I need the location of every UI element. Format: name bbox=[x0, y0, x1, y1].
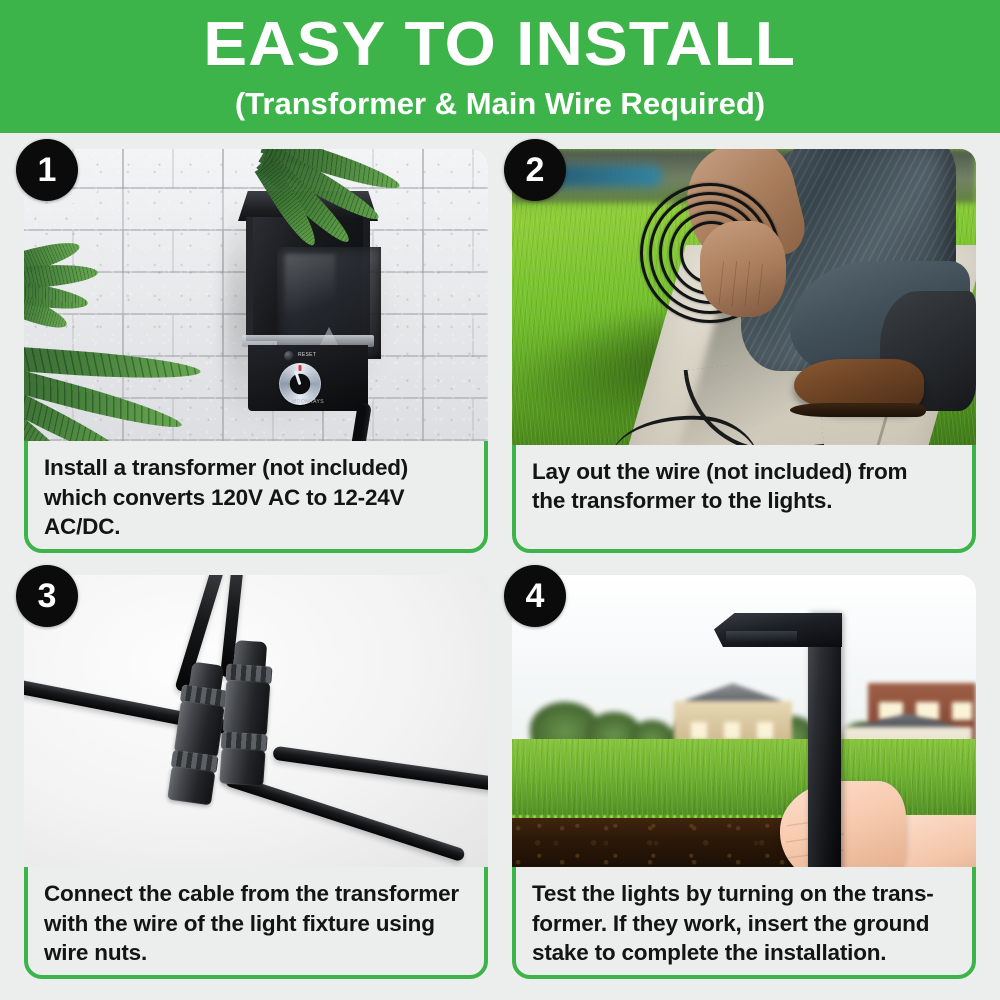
step-caption-2: Lay out the wire (not included) from the… bbox=[516, 445, 972, 549]
step-image-4 bbox=[512, 575, 976, 867]
step-badge-2: 2 bbox=[504, 139, 566, 201]
step-card-1: 1 RESET MO bbox=[24, 149, 488, 553]
step-image-2 bbox=[512, 149, 976, 445]
caption-line: which converts 120V AC to 12-24V bbox=[44, 483, 470, 512]
house-window bbox=[691, 722, 708, 740]
step-badge-3: 3 bbox=[16, 565, 78, 627]
caption-line: Test the lights by turning on the trans- bbox=[532, 879, 958, 908]
connector-barrel bbox=[223, 680, 271, 737]
page-title: EASY TO INSTALL bbox=[204, 14, 797, 76]
connector-barrel bbox=[174, 700, 225, 758]
step-image-1: RESET MOONRAYS bbox=[24, 149, 488, 441]
step-caption-3: Connect the cable from the transformer w… bbox=[28, 867, 484, 975]
house-window bbox=[757, 722, 774, 740]
connector-end bbox=[167, 766, 215, 806]
caption-line: former. If they work, insert the ground bbox=[532, 909, 958, 938]
person-hand bbox=[700, 221, 786, 317]
step-card-4: 4 bbox=[512, 575, 976, 979]
house-window bbox=[724, 722, 741, 740]
reset-button-label: RESET bbox=[298, 352, 316, 358]
page-subtitle: (Transformer & Main Wire Required) bbox=[235, 88, 765, 119]
caption-line: Lay out the wire (not included) from bbox=[532, 457, 958, 486]
step-badge-1: 1 bbox=[16, 139, 78, 201]
caption-line: wire nuts. bbox=[44, 938, 470, 967]
transformer-brand-label: MOONRAYS bbox=[292, 399, 324, 405]
steps-grid: 1 RESET MO bbox=[24, 149, 976, 979]
caption-line: the transformer to the lights. bbox=[532, 486, 958, 515]
infographic-page: EASY TO INSTALL (Transformer & Main Wire… bbox=[0, 0, 1000, 1000]
person-shoe bbox=[794, 359, 924, 411]
path-light-head bbox=[714, 613, 842, 647]
reset-button-icon bbox=[284, 351, 294, 361]
step-card-3: 3 bbox=[24, 575, 488, 979]
caption-line: AC/DC. bbox=[44, 512, 470, 541]
house-window bbox=[952, 702, 971, 721]
connector-end bbox=[219, 747, 265, 786]
caption-line: with the wire of the light fixture using bbox=[44, 909, 470, 938]
path-light-post bbox=[808, 613, 841, 867]
step-card-2: 2 bbox=[512, 149, 976, 553]
step-caption-1: Install a transformer (not included) whi… bbox=[28, 441, 484, 549]
caption-line: stake to complete the installation. bbox=[532, 938, 958, 967]
caption-line: Connect the cable from the transformer bbox=[44, 879, 470, 908]
header-banner: EASY TO INSTALL (Transformer & Main Wire… bbox=[0, 0, 1000, 133]
person-hand-gripping-fixture bbox=[780, 781, 906, 867]
step-image-3 bbox=[24, 575, 488, 867]
step-caption-4: Test the lights by turning on the trans-… bbox=[516, 867, 972, 975]
lawn-foreground bbox=[512, 739, 976, 821]
step-badge-4: 4 bbox=[504, 565, 566, 627]
caption-line: Install a transformer (not included) bbox=[44, 453, 470, 482]
transformer-control-panel: RESET MOONRAYS bbox=[248, 345, 368, 411]
